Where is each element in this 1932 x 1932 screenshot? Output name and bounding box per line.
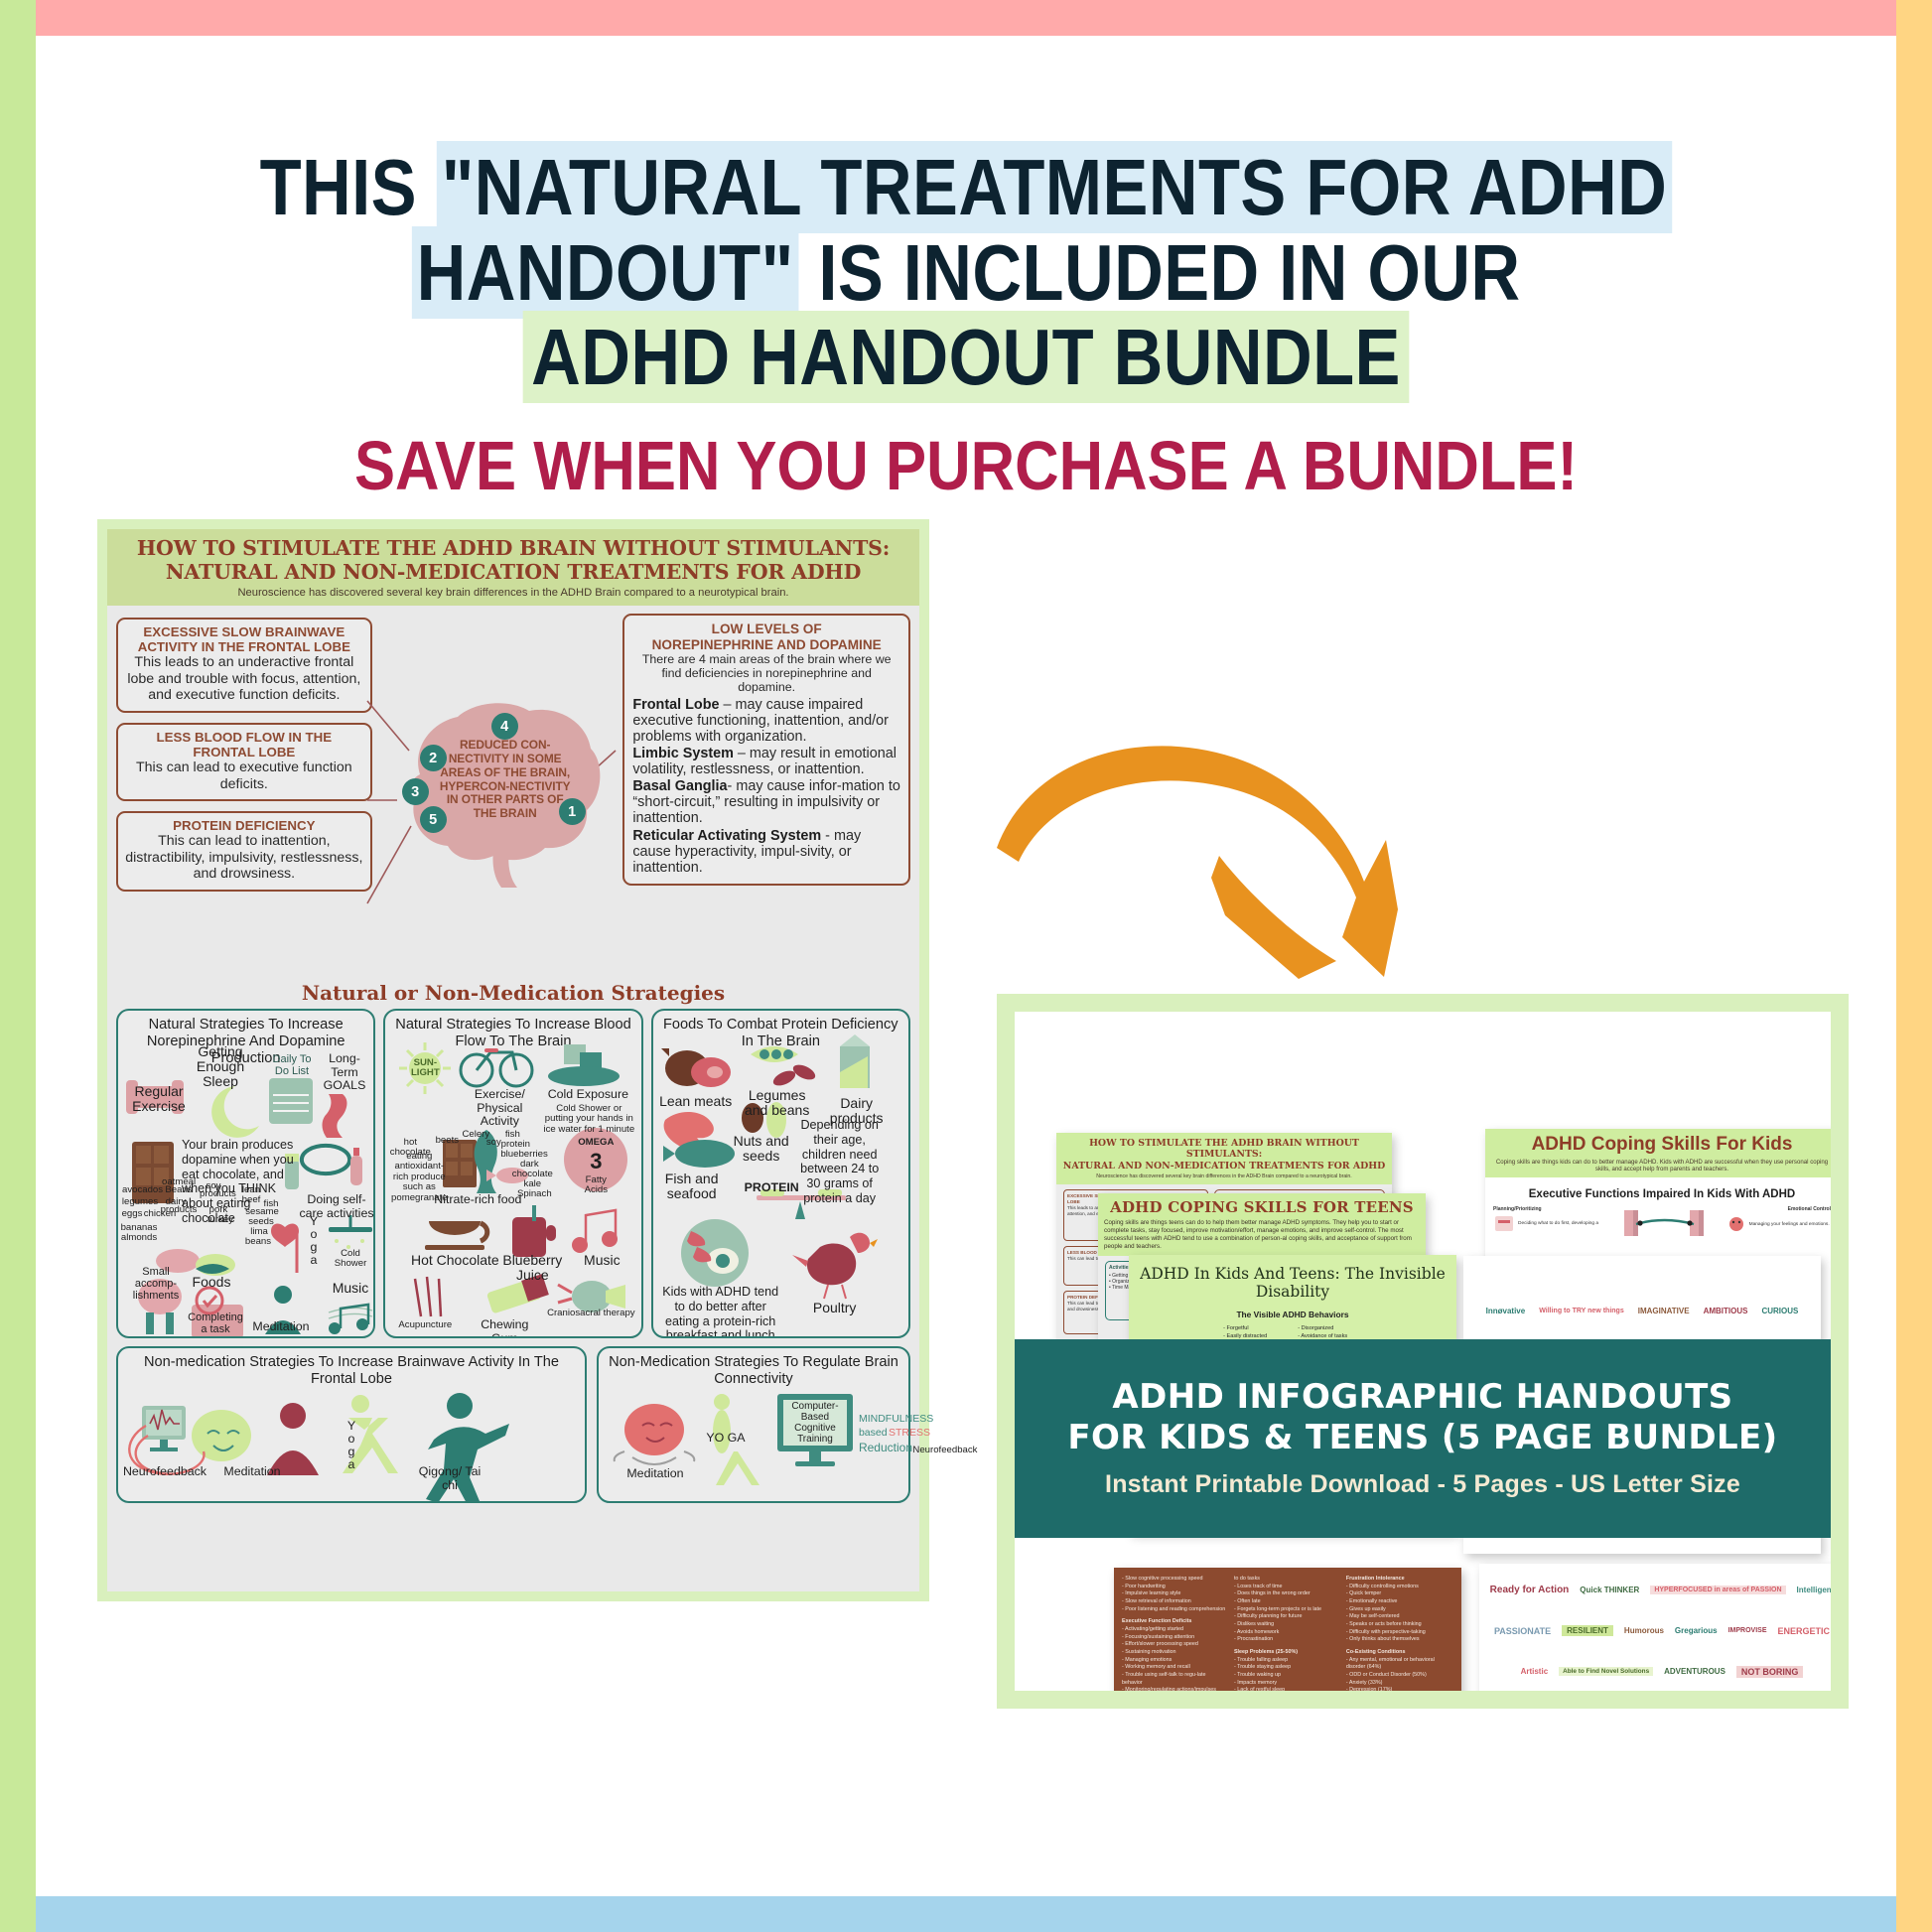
- headline-line-2: HANDOUT" IS INCLUDED IN OUR: [166, 230, 1766, 316]
- label-cold-exposure-note: Cold Shower or putting your hands in ice…: [542, 1104, 635, 1135]
- brown-c2b-i3: - Trouble waking up: [1234, 1672, 1338, 1680]
- brown-c3-i2: - Quick temper: [1346, 1590, 1453, 1598]
- finding-box-brainwave-head: EXCESSIVE SLOW BRAINWAVE ACTIVITY IN THE…: [125, 624, 363, 654]
- label-foods: Foods: [182, 1275, 241, 1290]
- label-neurofeedback-2: Neurofeedback: [908, 1446, 982, 1455]
- mock-page-teens-sub: Coping skills are things teens can do to…: [1104, 1219, 1420, 1251]
- label-completing-a-task: Completing a task: [186, 1312, 245, 1336]
- food-word-legumes: legumes: [120, 1197, 160, 1207]
- brown-col3b-head: Co-Existing Conditions: [1346, 1649, 1453, 1657]
- handout-title-line-1: HOW TO STIMULATE THE ADHD BRAIN WITHOUT …: [117, 537, 909, 561]
- mock-page-strengths-words-2[interactable]: Ready for Action Quick THINKER HYPERFOCU…: [1479, 1564, 1831, 1691]
- headline-line-1-prefix: THIS: [260, 143, 437, 231]
- brown-columns: - Slow cognitive processing speed - Poor…: [1114, 1568, 1461, 1691]
- word-energetic: ENERGETIC: [1778, 1626, 1831, 1636]
- brain-diagram[interactable]: REDUCED CON-NECTIVITY IN SOME AREAS OF T…: [384, 683, 621, 911]
- brown-col1-head: Executive Function Deficits: [1122, 1618, 1226, 1626]
- label-blueberry-juice: Blueberry Juice: [502, 1253, 562, 1283]
- frame-left-green: [0, 0, 36, 1932]
- brown-c2-i7: - Dislikes waiting: [1234, 1621, 1338, 1629]
- label-neurofeedback: Neurofeedback: [120, 1465, 209, 1478]
- label-getting-enough-sleep: Getting Enough Sleep: [192, 1044, 249, 1089]
- ef-right-head: Emotional Control: [1726, 1206, 1831, 1212]
- label-regular-exercise: Regular Exercise: [124, 1084, 194, 1114]
- label-qigong-tai-chi: Qigong/ Tai chi: [412, 1465, 487, 1492]
- brown-c2-i5: - Forgets long-term projects or is late: [1234, 1606, 1338, 1614]
- strategy-cards-row-2: Non-medication Strategies To Increase Br…: [107, 1338, 919, 1513]
- food-word-chicken: chicken: [142, 1209, 178, 1219]
- clipboard-icon: [1493, 1214, 1515, 1232]
- mock-page-invisible-title: ADHD In Kids And Teens: The Invisible Di…: [1135, 1265, 1450, 1301]
- food-word-products-soy: products: [200, 1189, 235, 1199]
- brown-c1b-i6: - Working memory and recall: [1122, 1664, 1226, 1672]
- brown-col1-top: - Slow cognitive processing speed - Poor…: [1122, 1576, 1226, 1613]
- protein-amount-blurb: Depending on their age, children need be…: [792, 1118, 888, 1205]
- label-stress: STRESS: [889, 1428, 928, 1439]
- label-meditation: Meditation: [249, 1320, 313, 1333]
- strategy-card-bloodflow[interactable]: Natural Strategies To Increase Blood Flo…: [383, 1009, 642, 1338]
- word-willing-to-try: Willing to TRY new things: [1539, 1308, 1624, 1314]
- brown-c3-i5: - May be self-centered: [1346, 1613, 1453, 1621]
- label-meditation-2: Meditation: [211, 1465, 293, 1478]
- brown-c1b-i7: - Trouble using self-talk to regu-late b…: [1122, 1672, 1226, 1687]
- brown-col2-bottom: - Trouble falling asleep - Trouble stayi…: [1234, 1657, 1338, 1691]
- mock-page-invisible-subhead: The Visible ADHD Behaviors: [1135, 1310, 1450, 1319]
- label-exercise-physical: Exercise/ Physical Activity: [469, 1088, 530, 1128]
- brown-c3-i8: - Only thinks about themselves: [1346, 1636, 1453, 1644]
- brown-c3-i7: - Difficulty with perspective-taking: [1346, 1629, 1453, 1637]
- mock-page-kids-body: Executive Functions Impaired In Kids Wit…: [1485, 1177, 1831, 1246]
- strategy-card-dopamine[interactable]: Natural Strategies To Increase Norepinep…: [116, 1009, 375, 1338]
- save-callout: SAVE WHEN YOU PURCHASE A BUNDLE!: [147, 426, 1784, 505]
- protein-breakfast-blurb: Kids with ADHD tend to do better after e…: [657, 1285, 784, 1338]
- executive-functions-diagram: Planning/Prioritizing Deciding what to d…: [1493, 1206, 1831, 1242]
- finding-box-bloodflow-head: LESS BLOOD FLOW IN THE FRONTAL LOBE: [125, 730, 363, 759]
- norepinephrine-box[interactable]: LOW LEVELS OF NOREPINEPHRINE AND DOPAMIN…: [622, 614, 910, 886]
- brown-col3-bottom: - Any mental, emotional or behavioral di…: [1346, 1657, 1453, 1691]
- strategies-section-title: Natural or Non-Medication Strategies: [107, 981, 919, 1005]
- label-legumes-beans: Legumes and beans: [741, 1088, 814, 1118]
- page-canvas: THIS "NATURAL TREATMENTS FOR ADHD HANDOU…: [36, 36, 1896, 1896]
- headline-line-2-suffix: IS INCLUDED IN OUR: [799, 228, 1521, 317]
- label-small-accomplishments: Small accomp-lishments: [126, 1267, 186, 1303]
- ef-left-head: Planning/Prioritizing: [1493, 1206, 1604, 1212]
- mock-page-kids-band: ADHD Coping Skills For Kids Coping skill…: [1485, 1129, 1831, 1177]
- food-word-beans2: beans: [241, 1237, 275, 1247]
- brown-c2-i4: - Often late: [1234, 1598, 1338, 1606]
- brown-c3-i3: - Emotionally reactive: [1346, 1598, 1453, 1606]
- norepinephrine-item-ras: Reticular Activating System - may cause …: [632, 828, 900, 876]
- brown-c1b-i4: - Sustaining motivation: [1122, 1649, 1226, 1657]
- brown-c2-i3: - Does things in the wrong order: [1234, 1590, 1338, 1598]
- natural-treatments-handout-preview[interactable]: HOW TO STIMULATE THE ADHD BRAIN WITHOUT …: [97, 519, 929, 1601]
- brown-c1-i5: - Poor listening and reading comprehensi…: [1122, 1606, 1226, 1614]
- term-limbic-system: Limbic System: [632, 746, 734, 761]
- brown-c3-i1: - Difficulty controlling emotions: [1346, 1584, 1453, 1591]
- bundle-banner: ADHD INFOGRAPHIC HANDOUTS FOR KIDS & TEE…: [1015, 1339, 1831, 1538]
- word-able-to-find-novel-solutions: Able to Find Novel Solutions: [1559, 1667, 1653, 1676]
- norepinephrine-item-basal-ganglia: Basal Ganglia- may cause infor-mation to…: [632, 778, 900, 826]
- finding-box-brainwave-body: This leads to an underactive frontal lob…: [125, 654, 363, 704]
- curved-down-right-arrow-icon: [989, 731, 1406, 1029]
- brown-c2b-i4: - Impacts memory: [1234, 1680, 1338, 1688]
- finding-box-bloodflow[interactable]: LESS BLOOD FLOW IN THE FRONTAL LOBE This…: [116, 723, 372, 801]
- strengths-word-cloud-2: Ready for Action Quick THINKER HYPERFOCU…: [1479, 1564, 1831, 1691]
- label-chewing-gum: Chewing Gum: [467, 1318, 542, 1338]
- label-cbt: Computer-Based Cognitive Training: [783, 1402, 847, 1445]
- label-long-term-goals: Long-Term GOALS: [317, 1052, 372, 1092]
- label-nuts-seeds: Nuts and seeds: [729, 1134, 794, 1164]
- word-hyperfocused: HYPERFOCUSED in areas of PASSION: [1650, 1586, 1785, 1594]
- label-craniosacral-therapy: Craniosacral therapy: [546, 1309, 635, 1318]
- label-daily-to-do-list: Daily To Do List: [269, 1054, 315, 1078]
- label-meditation-3: Meditation: [609, 1467, 702, 1480]
- label-cold-shower: Cold Shower: [325, 1249, 375, 1270]
- brown-c2b-i2: - Trouble staying asleep: [1234, 1664, 1338, 1672]
- handout-title: HOW TO STIMULATE THE ADHD BRAIN WITHOUT …: [117, 537, 909, 584]
- brown-c1b-i3: - Effort/slower processing speed: [1122, 1641, 1226, 1649]
- finding-box-protein[interactable]: PROTEIN DEFICIENCY This can lead to inat…: [116, 811, 372, 892]
- label-protein: PROTEIN: [745, 1181, 798, 1194]
- strategy-card-protein[interactable]: Foods To Combat Protein Deficiency In Th…: [651, 1009, 910, 1338]
- norepinephrine-head: LOW LEVELS OF NOREPINEPHRINE AND DOPAMIN…: [632, 621, 900, 652]
- norepinephrine-item-limbic-system: Limbic System – may result in emotional …: [632, 746, 900, 777]
- bridge-icon: [1610, 1206, 1720, 1242]
- brain-center-label: REDUCED CON-NECTIVITY IN SOME AREAS OF T…: [436, 739, 575, 821]
- brown-col3-head: Frustration Intolerance: [1346, 1576, 1453, 1584]
- headline-line-1: THIS "NATURAL TREATMENTS FOR ADHD: [166, 145, 1766, 230]
- label-cold-exposure: Cold Exposure: [544, 1088, 631, 1101]
- bundle-mockup-preview[interactable]: HOW TO STIMULATE THE ADHD BRAIN WITHOUT …: [997, 994, 1849, 1709]
- brown-c2-i1: to do tasks: [1234, 1576, 1338, 1584]
- brown-c3b-i3: - Anxiety (33%): [1346, 1680, 1453, 1688]
- finding-box-bloodflow-body: This can lead to executive function defi…: [125, 759, 363, 792]
- handout-page: HOW TO STIMULATE THE ADHD BRAIN WITHOUT …: [107, 529, 919, 1591]
- handout-top-section: EXCESSIVE SLOW BRAINWAVE ACTIVITY IN THE…: [107, 606, 919, 979]
- bundle-mockup-canvas: HOW TO STIMULATE THE ADHD BRAIN WITHOUT …: [1015, 1012, 1831, 1691]
- word-innovative: Innøvative: [1486, 1307, 1526, 1315]
- mock-page-kids-sub: Coping skills are things kids can do to …: [1491, 1159, 1831, 1173]
- bundle-banner-line-1: ADHD INFOGRAPHIC HANDOUTS: [1112, 1378, 1732, 1416]
- left-findings-column: EXCESSIVE SLOW BRAINWAVE ACTIVITY IN THE…: [116, 612, 372, 979]
- ef-left-body: Deciding what to do first, developing a: [1518, 1221, 1598, 1226]
- word-intelligent: Intelligent: [1797, 1586, 1831, 1594]
- word-gregarious: Gregarious: [1675, 1626, 1718, 1635]
- word-not-boring: NOT BORING: [1736, 1666, 1804, 1678]
- label-based: based: [859, 1428, 893, 1439]
- headline-line-3-highlight: ADHD HANDOUT BUNDLE: [523, 311, 1410, 403]
- label-yoga-3: YO GA: [704, 1432, 748, 1445]
- brown-c3-i6: - Speaks or acts before thinking: [1346, 1621, 1453, 1629]
- label-lean-meats: Lean meats: [655, 1094, 737, 1109]
- label-mindfulness: MINDFULNESS: [859, 1414, 924, 1425]
- norepinephrine-head-line-2: NOREPINEPHRINE AND DOPAMINE: [632, 637, 900, 652]
- mock-page-natural-band: HOW TO STIMULATE THE ADHD BRAIN WITHOUT …: [1056, 1133, 1392, 1184]
- label-music-2: Music: [574, 1253, 629, 1268]
- headline-line-2-highlight: HANDOUT": [411, 226, 798, 319]
- brown-c3b-i1: - Any mental, emotional or behavioral di…: [1346, 1657, 1453, 1672]
- strategy-cards-row: Natural Strategies To Increase Norepinep…: [107, 1009, 919, 1338]
- word-improvise: IMPROVISE: [1728, 1627, 1767, 1634]
- norepinephrine-column: LOW LEVELS OF NOREPINEPHRINE AND DOPAMIN…: [622, 612, 910, 979]
- brown-c1-i3: - Impulsive learning style: [1122, 1590, 1226, 1598]
- finding-box-protein-head: PROTEIN DEFICIENCY: [125, 818, 363, 833]
- mock-page-natural-sub: Neuroscience has discovered several key …: [1062, 1173, 1386, 1179]
- finding-box-brainwave[interactable]: EXCESSIVE SLOW BRAINWAVE ACTIVITY IN THE…: [116, 618, 372, 713]
- brown-c1-i2: - Poor handwriting: [1122, 1584, 1226, 1591]
- brown-c2b-i1: - Trouble falling asleep: [1234, 1657, 1338, 1665]
- term-frontal-lobe: Frontal Lobe: [632, 697, 719, 713]
- mock-page-kids-title: ADHD Coping Skills For Kids: [1491, 1134, 1831, 1156]
- word-quick-thinker: Quick THINKER: [1580, 1586, 1639, 1594]
- label-hot-chocolate: Hot Chocolate: [399, 1253, 510, 1268]
- label-yoga: Y o g a: [307, 1215, 321, 1267]
- chocolate-dopamine-blurb: Your brain produces dopamine when you ea…: [182, 1138, 299, 1225]
- mock-page-invisible-header: ADHD In Kids And Teens: The Invisible Di…: [1129, 1255, 1456, 1321]
- brown-col3-top: - Difficulty controlling emotions - Quic…: [1346, 1584, 1453, 1644]
- emotion-face-icon: [1726, 1214, 1746, 1234]
- handout-header: HOW TO STIMULATE THE ADHD BRAIN WITHOUT …: [107, 529, 919, 606]
- mock-page-teens-band: ADHD COPING SKILLS FOR TEENS Coping skil…: [1098, 1193, 1426, 1256]
- food-word-beef: beef: [239, 1195, 263, 1205]
- handout-subtitle: Neuroscience has discovered several key …: [117, 587, 909, 599]
- brown-c1b-i8: - Monitoring/regulating actions/impulses: [1122, 1687, 1226, 1691]
- brain-pin-2[interactable]: 2: [420, 745, 447, 771]
- mock-page-kids-subhead: Executive Functions Impaired In Kids Wit…: [1493, 1188, 1831, 1200]
- brown-col1-bottom: - Activating/getting started - Focusing/…: [1122, 1626, 1226, 1691]
- word-curious: CURIOUS: [1761, 1307, 1798, 1315]
- brain-diagram-column: REDUCED CON-NECTIVITY IN SOME AREAS OF T…: [376, 612, 620, 979]
- label-acupuncture: Acupuncture: [391, 1320, 459, 1330]
- frame-right-orange: [1896, 0, 1932, 1932]
- brain-pin-1[interactable]: 1: [559, 798, 586, 825]
- strategy-card-brainwave[interactable]: Non-medication Strategies To Increase Br…: [116, 1346, 587, 1503]
- nitrate-word-beets: beets: [433, 1136, 461, 1146]
- label-yoga-2: Y o g a: [345, 1420, 358, 1471]
- food-word-turkey: turkey: [204, 1215, 237, 1225]
- invisible-col2-item1: - Disorganized: [1298, 1325, 1362, 1333]
- norepinephrine-item-frontal-lobe: Frontal Lobe – may cause impaired execut…: [632, 697, 900, 745]
- brown-col2-top: to do tasks - Loses track of time - Does…: [1234, 1576, 1338, 1644]
- word-ambitious: AMBITIOUS: [1704, 1307, 1748, 1315]
- finding-box-protein-body: This can lead to inattention, distractib…: [125, 833, 363, 883]
- food-word-almonds: almonds: [118, 1233, 160, 1243]
- bundle-banner-subtitle: Instant Printable Download - 5 Pages - U…: [1105, 1470, 1740, 1499]
- brown-col2-head: Sleep Problems (25-50%): [1234, 1649, 1338, 1657]
- food-word-avocados: avocados: [122, 1185, 162, 1195]
- brain-pin-4[interactable]: 4: [491, 713, 518, 740]
- brown-c2-i9: - Procrastination: [1234, 1636, 1338, 1644]
- norepinephrine-sub: There are 4 main areas of the brain wher…: [632, 652, 900, 694]
- mock-page-symptoms-brown[interactable]: - Slow cognitive processing speed - Poor…: [1114, 1568, 1461, 1691]
- brain-pin-3[interactable]: 3: [402, 778, 429, 805]
- word-passionate: PASSIONATE: [1494, 1626, 1551, 1636]
- brown-c3b-i4: - Depression (17%): [1346, 1687, 1453, 1691]
- handout-title-line-2: NATURAL AND NON-MEDICATION TREATMENTS FO…: [117, 561, 909, 585]
- term-ras: Reticular Activating System: [632, 828, 821, 844]
- brown-c1-i4: - Slow retrieval of information: [1122, 1598, 1226, 1606]
- label-music: Music: [325, 1281, 375, 1296]
- brown-c3b-i2: - ODD or Conduct Disorder (50%): [1346, 1672, 1453, 1680]
- bundle-banner-line-2: FOR KIDS & TEENS (5 PAGE BUNDLE): [1067, 1419, 1777, 1456]
- headline-line-1-highlight: "NATURAL TREATMENTS FOR ADHD: [437, 141, 1673, 233]
- label-nitrate-rich-food: Nitrate-rich food: [431, 1193, 524, 1206]
- headline-block: THIS "NATURAL TREATMENTS FOR ADHD HANDOU…: [36, 145, 1896, 505]
- invisible-col1-item1: - Forgetful: [1223, 1325, 1286, 1333]
- headline-line-3: ADHD HANDOUT BUNDLE: [166, 315, 1766, 400]
- label-omega-top: OMEGA: [572, 1138, 620, 1148]
- brown-c1-i1: - Slow cognitive processing speed: [1122, 1576, 1226, 1584]
- word-artistic: Artistic: [1521, 1667, 1549, 1676]
- word-adventurous: ADVENTUROUS: [1664, 1667, 1725, 1676]
- label-omega-bottom: Fatty Acids: [574, 1175, 618, 1196]
- brown-c3-i4: - Gives up easily: [1346, 1606, 1453, 1614]
- brain-pin-5[interactable]: 5: [420, 806, 447, 833]
- mock-page-teens-title: ADHD COPING SKILLS FOR TEENS: [1104, 1198, 1420, 1216]
- term-basal-ganglia: Basal Ganglia: [632, 778, 727, 794]
- norepinephrine-head-line-1: LOW LEVELS OF: [632, 621, 900, 636]
- mock-page-natural-title-2: NATURAL AND NON-MEDICATION TREATMENTS FO…: [1062, 1161, 1386, 1172]
- word-imaginative: IMAGINATIVE: [1638, 1307, 1690, 1315]
- word-ready-for-action: Ready for Action: [1490, 1585, 1570, 1595]
- ef-right-body: Managing your feelings and emotions.: [1749, 1222, 1830, 1227]
- brown-c1b-i5: - Managing emotions: [1122, 1657, 1226, 1665]
- mock-page-natural-title-1: HOW TO STIMULATE THE ADHD BRAIN WITHOUT …: [1062, 1138, 1386, 1161]
- brown-c2-i6: - Difficulty planning for future: [1234, 1613, 1338, 1621]
- word-resilient: RESILIENT: [1562, 1625, 1613, 1636]
- brown-c1b-i1: - Activating/getting started: [1122, 1626, 1226, 1634]
- label-fish-seafood: Fish and seafood: [657, 1172, 727, 1201]
- label-poultry: Poultry: [804, 1301, 866, 1315]
- label-sunlight: SUN-LIGHT: [407, 1058, 443, 1079]
- brown-c1b-i2: - Focusing/sustaining attention: [1122, 1634, 1226, 1642]
- word-humorous: Humorous: [1624, 1626, 1664, 1635]
- brown-c2b-i5: - Lack of restful sleep: [1234, 1687, 1338, 1691]
- food-word-beans: Beans: [162, 1185, 196, 1195]
- frame-top-pink: [35, 0, 1932, 36]
- brown-c2-i8: - Avoids homework: [1234, 1629, 1338, 1637]
- strategy-card-connectivity[interactable]: Non-Medication Strategies To Regulate Br…: [597, 1346, 910, 1503]
- frame-bottom-blue: [0, 1896, 1897, 1932]
- label-omega-number: 3: [580, 1150, 612, 1173]
- brown-c2-i2: - Loses track of time: [1234, 1584, 1338, 1591]
